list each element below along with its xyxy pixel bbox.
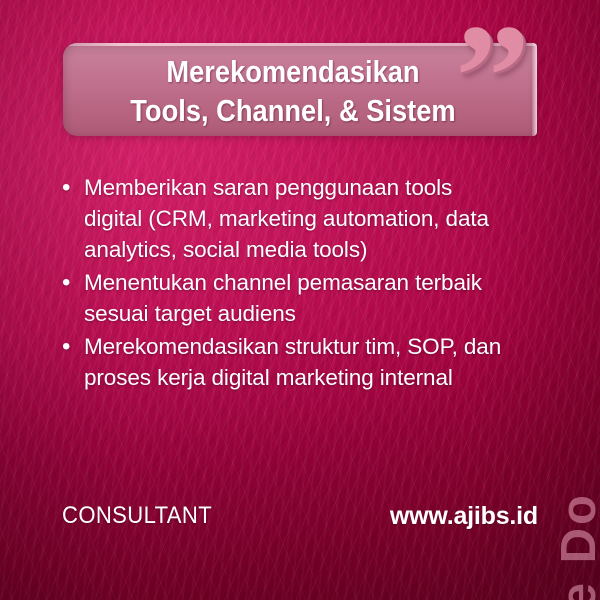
bullet-dot-icon: • bbox=[62, 172, 84, 203]
page-title: Merekomendasikan Tools, Channel, & Siste… bbox=[91, 52, 496, 130]
list-item: • Menentukan channel pemasaran terbaik s… bbox=[62, 267, 514, 329]
list-item-text: Merekomendasikan struktur tim, SOP, dan … bbox=[84, 331, 514, 393]
quote-decoration: ” bbox=[455, 2, 565, 122]
slide-canvas: What We Do ” Merekomendasikan Tools, Cha… bbox=[0, 0, 600, 600]
list-item: • Memberikan saran penggunaan tools digi… bbox=[62, 172, 514, 265]
bullet-dot-icon: • bbox=[62, 331, 84, 362]
footer: CONSULTANT www.ajibs.id bbox=[0, 500, 600, 534]
footer-role-label: CONSULTANT bbox=[62, 500, 212, 532]
quote-mark-icon: ” bbox=[455, 2, 530, 152]
bullet-dot-icon: • bbox=[62, 267, 84, 298]
list-item-text: Menentukan channel pemasaran terbaik ses… bbox=[84, 267, 514, 329]
bullet-list: • Memberikan saran penggunaan tools digi… bbox=[62, 172, 514, 395]
list-item-text: Memberikan saran penggunaan tools digita… bbox=[84, 172, 514, 265]
footer-website-label: www.ajibs.id bbox=[390, 500, 538, 532]
list-item: • Merekomendasikan struktur tim, SOP, da… bbox=[62, 331, 514, 393]
